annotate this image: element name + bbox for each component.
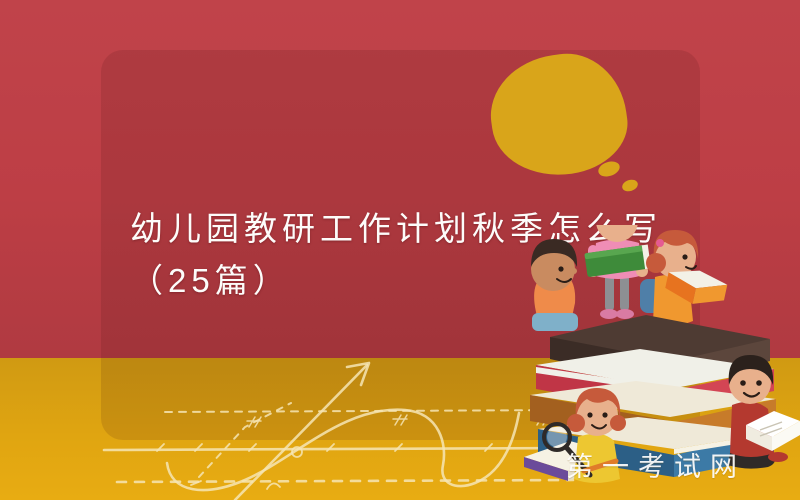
- banner-image: 幼儿园教研工作计划秋季怎么写（25篇）: [0, 0, 800, 500]
- page-title: 幼儿园教研工作计划秋季怎么写（25篇）: [130, 203, 690, 307]
- site-watermark: 第一考试网: [566, 452, 746, 482]
